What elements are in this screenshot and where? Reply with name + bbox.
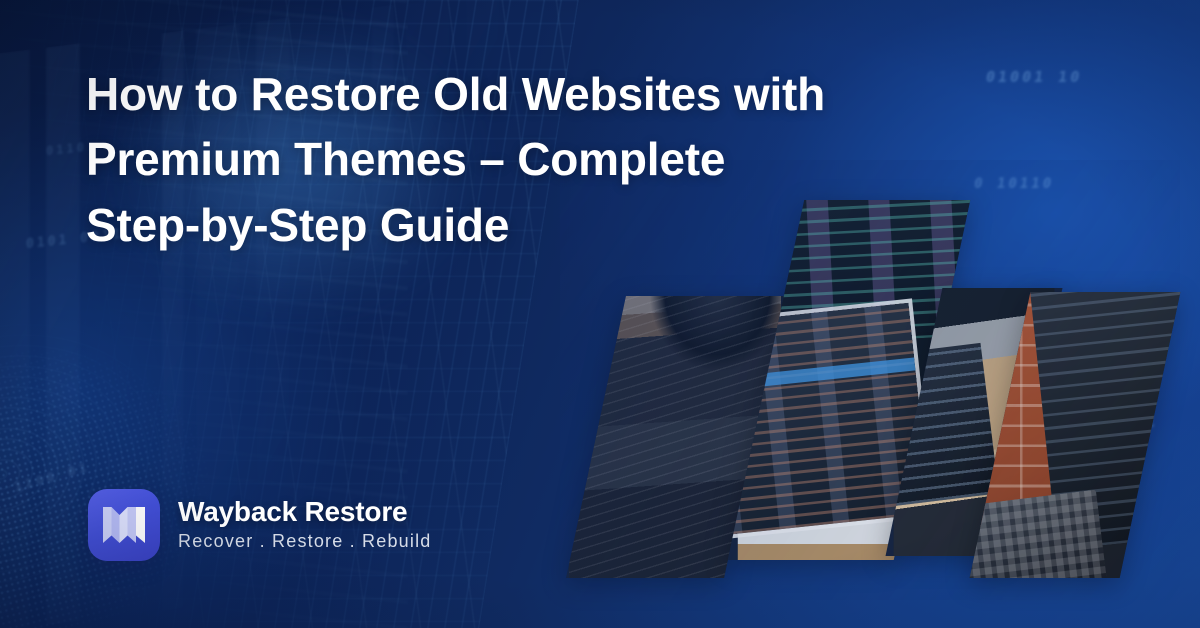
brand-tagline: Recover . Restore . Rebuild bbox=[178, 530, 432, 553]
blog-banner: 01001 10 0 10110 00001 00001 10001 0101 … bbox=[0, 0, 1200, 628]
page-title-line: How to Restore Old Websites with bbox=[86, 62, 966, 127]
page-title-line: Step-by-Step Guide bbox=[86, 193, 966, 258]
brand-lockup[interactable]: Wayback Restore Recover . Restore . Rebu… bbox=[88, 489, 432, 561]
laptop-keyboard-icon bbox=[970, 490, 1108, 578]
brand-name: Wayback Restore bbox=[178, 496, 432, 527]
wayback-w-logo-icon bbox=[88, 489, 160, 561]
page-title: How to Restore Old Websites with Premium… bbox=[86, 62, 966, 258]
page-title-line: Premium Themes – Complete bbox=[86, 127, 966, 192]
brand-text-block: Wayback Restore Recover . Restore . Rebu… bbox=[178, 496, 432, 554]
